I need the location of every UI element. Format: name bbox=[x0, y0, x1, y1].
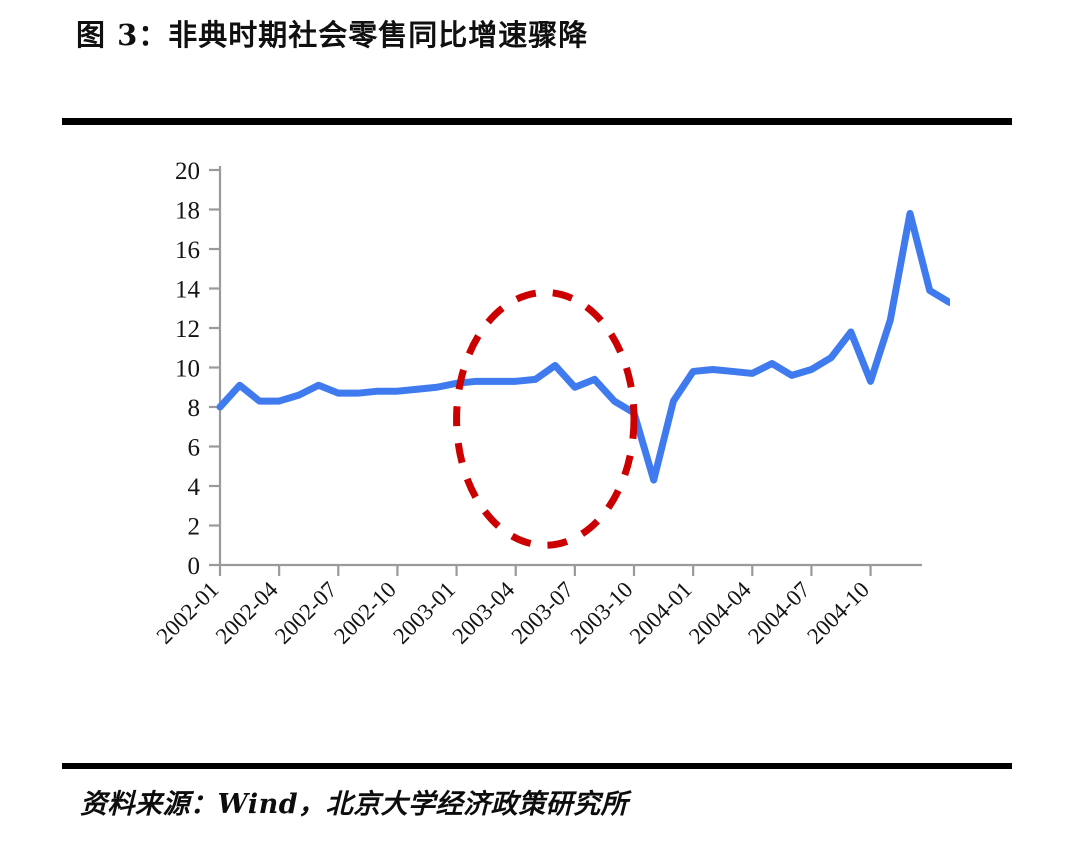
page-title: 图 3：非典时期社会零售同比增速骤降 bbox=[76, 12, 588, 54]
x-axis: 2002-012002-042002-072002-102003-012003-… bbox=[152, 565, 922, 649]
y-axis-tick-label: 2 bbox=[188, 514, 201, 541]
x-axis-tick-label: 2004-04 bbox=[684, 577, 756, 649]
retail-growth-line bbox=[220, 213, 950, 480]
divider-bottom bbox=[62, 763, 1012, 769]
x-axis-tick-label: 2003-10 bbox=[566, 577, 638, 649]
y-axis-tick-label: 14 bbox=[175, 277, 201, 304]
divider-top bbox=[62, 118, 1012, 125]
x-axis-tick-label: 2004-10 bbox=[802, 577, 874, 649]
y-axis-tick-label: 20 bbox=[175, 158, 200, 185]
x-axis-tick-label: 2003-04 bbox=[447, 577, 519, 649]
y-axis-tick-label: 4 bbox=[188, 474, 201, 501]
source-caption: 资料来源：Wind，北京大学经济政策研究所 bbox=[80, 782, 628, 821]
y-axis-tick-label: 18 bbox=[175, 198, 200, 225]
x-axis-tick-label: 2002-07 bbox=[270, 577, 342, 649]
figure-root: 图 3：非典时期社会零售同比增速骤降 02468101214161820 200… bbox=[0, 0, 1090, 854]
x-axis-tick-label: 2002-04 bbox=[211, 577, 283, 649]
line-chart: 02468101214161820 2002-012002-042002-072… bbox=[120, 140, 950, 700]
x-axis-tick-label: 2003-01 bbox=[388, 577, 460, 649]
highlight-ellipse-annotation bbox=[457, 292, 634, 545]
y-axis-tick-label: 8 bbox=[188, 395, 201, 422]
y-axis-tick-label: 10 bbox=[175, 356, 200, 383]
chart-plot-area: 02468101214161820 2002-012002-042002-072… bbox=[120, 140, 950, 700]
y-axis-tick-label: 16 bbox=[175, 237, 200, 264]
sars-highlight-ellipse bbox=[457, 292, 634, 545]
data-series-retail-growth bbox=[220, 213, 950, 480]
y-axis-tick-label: 6 bbox=[188, 435, 201, 462]
x-axis-tick-label: 2003-07 bbox=[506, 577, 578, 649]
x-axis-tick-label: 2002-10 bbox=[329, 577, 401, 649]
y-axis-tick-label: 12 bbox=[175, 316, 200, 343]
x-axis-tick-label: 2004-01 bbox=[625, 577, 697, 649]
x-axis-tick-label: 2004-07 bbox=[743, 577, 815, 649]
y-axis-tick-label: 0 bbox=[188, 553, 201, 580]
x-axis-tick-label: 2002-01 bbox=[152, 577, 224, 649]
y-axis: 02468101214161820 bbox=[175, 158, 220, 580]
